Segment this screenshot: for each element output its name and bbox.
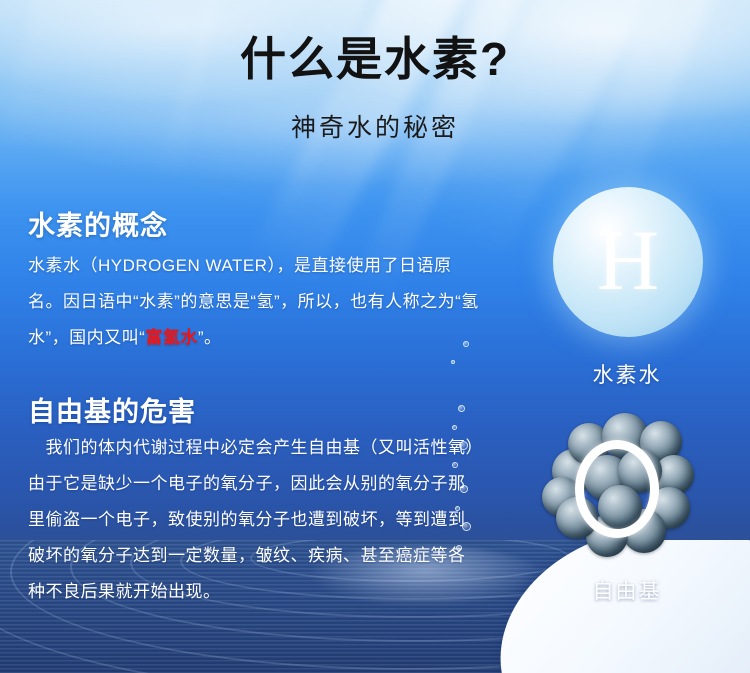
section-body-radical: 我们的体内代谢过程中必定会产生自由基（又叫活性氧）由于它是缺少一个电子的氧分子，…: [28, 430, 480, 610]
free-radical-cluster: [540, 415, 695, 560]
bubble-icon: [459, 441, 468, 450]
bubble-icon: [458, 405, 465, 412]
bubble-icon: [452, 425, 457, 430]
bubble-icon: [456, 545, 462, 551]
bubble-icon: [460, 485, 468, 493]
sunray-6: [0, 0, 238, 192]
page-title: 什么是水素?: [0, 34, 750, 85]
highlight-fuqingshui: 富氢水: [145, 328, 198, 347]
poster-canvas: 什么是水素? 神奇水的秘密 水素的概念 水素水（HYDROGEN WATER），…: [0, 0, 750, 673]
section-heading-radical: 自由基的危害: [28, 390, 196, 429]
hydrogen-glyph: H: [553, 187, 703, 337]
concept-text-tail: ”。: [198, 328, 222, 347]
section-body-concept: 水素水（HYDROGEN WATER），是直接使用了日语原名。因日语中“水素”的…: [28, 248, 480, 356]
bubble-icon: [463, 341, 469, 347]
bubble-icon: [455, 506, 460, 511]
bubble-icon: [451, 360, 455, 364]
caption-hydrogen-water: 水素水: [532, 359, 722, 389]
bubble-icon: [462, 522, 471, 531]
page-subtitle: 神奇水的秘密: [0, 108, 750, 144]
oxygen-glyph-ring: [575, 440, 659, 538]
bubble-icon: [452, 462, 458, 468]
concept-text-lead: 水素水（HYDROGEN WATER），是直接使用了日语原名。因日语中“水素”的…: [28, 256, 479, 347]
section-heading-concept: 水素的概念: [28, 204, 168, 243]
hydrogen-sphere: H: [553, 187, 703, 337]
caption-free-radical: 自由基: [532, 575, 722, 605]
